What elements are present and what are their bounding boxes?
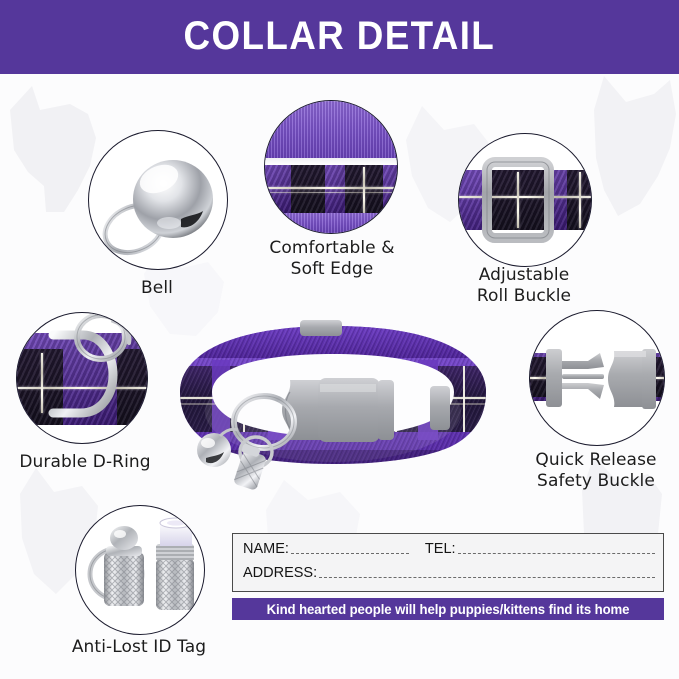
soft-edge-caption: Comfortable & Soft Edge xyxy=(252,238,412,279)
kind-hearted-banner: Kind hearted people will help puppies/ki… xyxy=(232,598,664,620)
card-row-name-tel: NAME: TEL: xyxy=(243,541,655,557)
roll-buckle-icon xyxy=(459,134,591,266)
strap-keeper xyxy=(430,386,450,430)
id-tag-capsule-icon xyxy=(76,506,204,634)
side-release-buckle xyxy=(282,378,394,442)
d-ring-circle xyxy=(16,312,148,444)
id-tag-circle xyxy=(75,505,205,635)
tel-label: TEL: xyxy=(425,541,456,557)
name-input-line[interactable] xyxy=(291,541,409,554)
soft-edge-circle xyxy=(264,100,398,234)
infographic-page: COLLAR DETAIL xyxy=(0,0,679,679)
webbing-edge-icon xyxy=(265,101,397,233)
d-ring-icon xyxy=(17,313,147,443)
address-label: ADDRESS: xyxy=(243,565,317,581)
id-info-card: NAME: TEL: ADDRESS: xyxy=(232,533,664,592)
quick-release-circle xyxy=(529,310,665,446)
name-label: NAME: xyxy=(243,541,289,557)
product-collar-image xyxy=(172,300,494,490)
bell-icon xyxy=(89,131,227,269)
bell-caption: Bell xyxy=(87,278,227,299)
header-banner: COLLAR DETAIL xyxy=(0,0,679,74)
id-tag-caption: Anti-Lost ID Tag xyxy=(42,637,236,658)
address-input-line[interactable] xyxy=(319,565,655,578)
tel-input-line[interactable] xyxy=(458,541,655,554)
strap-keeper xyxy=(300,320,342,336)
bell-circle xyxy=(88,130,228,270)
card-row-address: ADDRESS: xyxy=(243,565,655,581)
kind-hearted-text: Kind hearted people will help puppies/ki… xyxy=(267,602,630,617)
collar-illustration xyxy=(172,300,494,490)
page-title: COLLAR DETAIL xyxy=(184,16,496,56)
roll-buckle-circle xyxy=(458,133,592,267)
side-release-buckle-icon xyxy=(530,311,664,445)
quick-release-caption: Quick Release Safety Buckle xyxy=(512,450,679,491)
d-ring-caption: Durable D-Ring xyxy=(0,452,174,473)
